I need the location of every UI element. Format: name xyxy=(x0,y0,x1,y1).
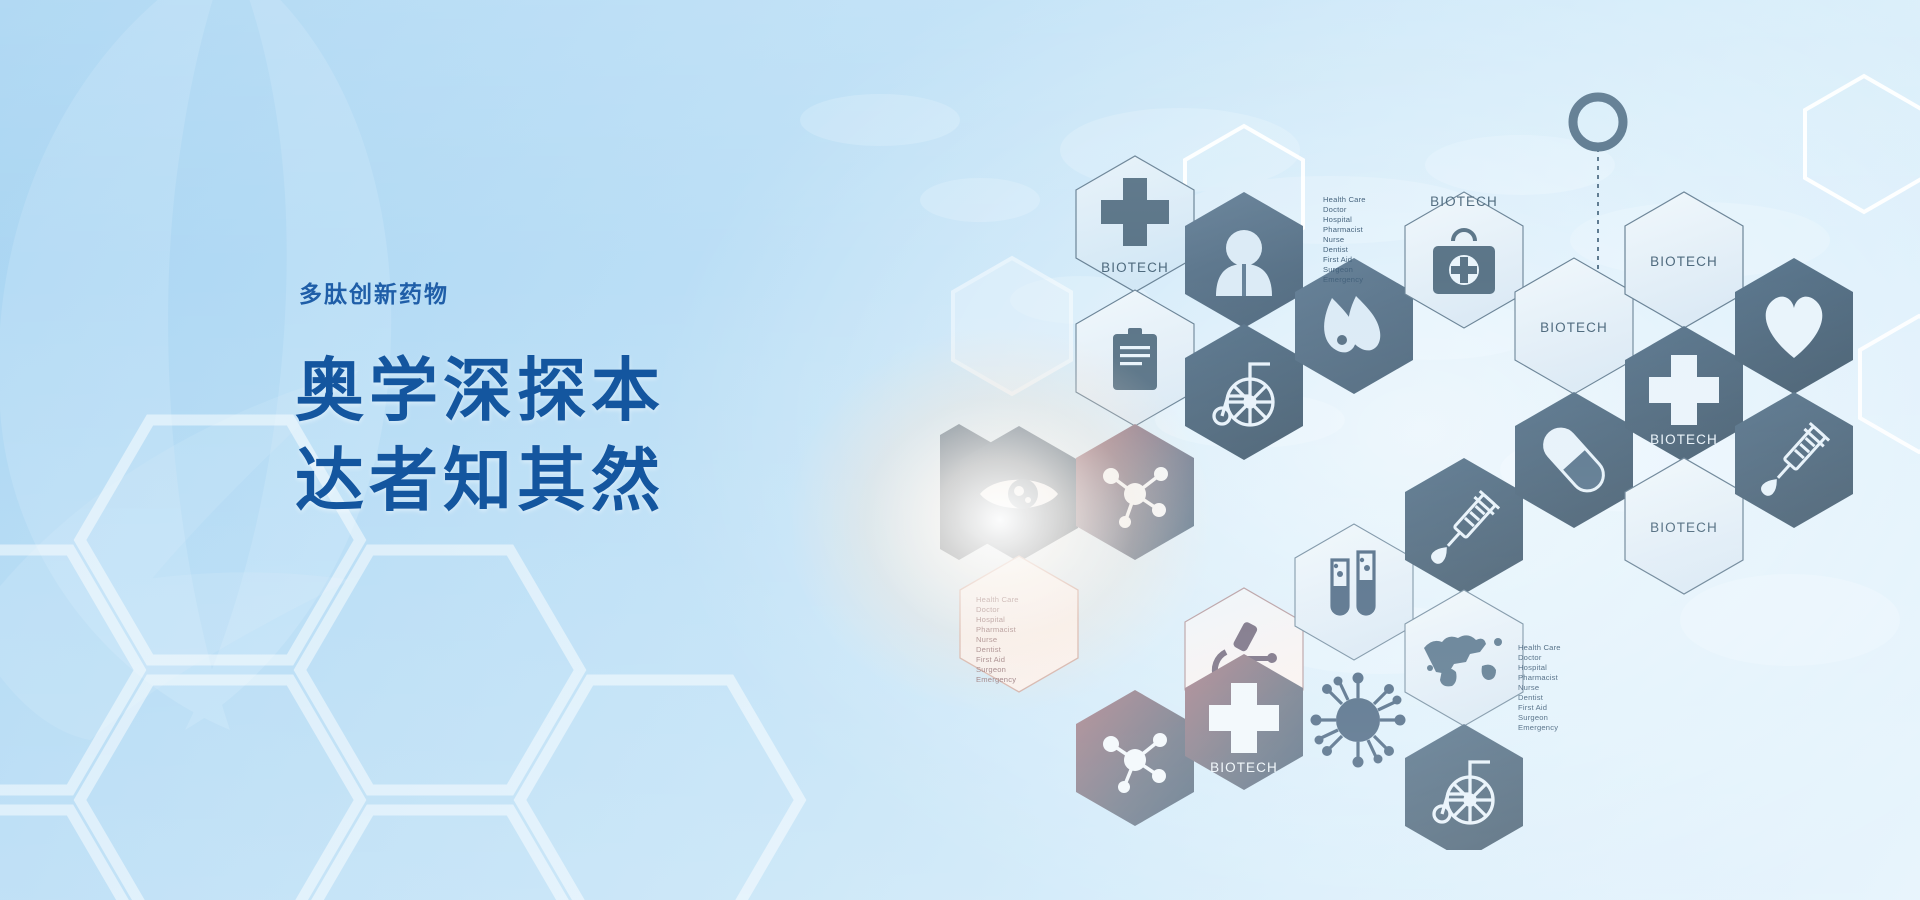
headline-line-1: 奥学深探本 xyxy=(295,347,665,437)
eyebrow-text: 多肽创新药物 xyxy=(299,275,665,309)
banner-copy: 多肽创新药物 奥学深探本 达者知其然 xyxy=(295,275,665,526)
headline-line-2: 达者知其然 xyxy=(295,437,665,527)
background-sheen xyxy=(0,0,1920,900)
banner-stage: Health Care Doctor Hospital Pharmacist N… xyxy=(0,0,1920,900)
